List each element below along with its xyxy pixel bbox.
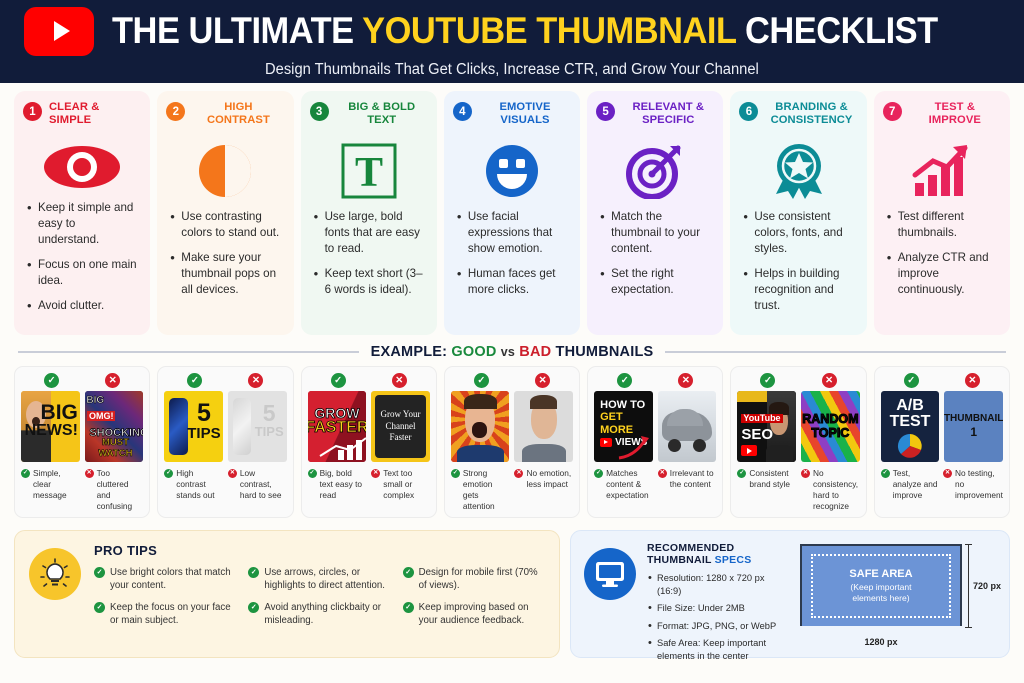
card-bullet: Keep it simple and easy to understand. — [27, 200, 139, 248]
cross-icon: ✕ — [105, 373, 120, 388]
pro-tip-item: ✓Use arrows, circles, or highlights to d… — [248, 566, 390, 592]
comparison-marks: ✓ ✕ — [21, 373, 143, 388]
thumbnail-pair: 5 TIPS 5 TIPS — [164, 391, 286, 462]
card-bullet: Analyze CTR and improve continuously. — [887, 250, 999, 298]
cross-icon: ✕ — [392, 373, 407, 388]
target-dart-icon — [596, 137, 714, 205]
comparison-card-7: ✓ ✕ A/B TEST THUMBNAIL 1 ✓Test, analyze … — [874, 366, 1010, 518]
good-thumbnail: 5 TIPS — [164, 391, 223, 462]
card-bullet: Helps in building recognition and trust. — [743, 266, 855, 314]
thumb-text-line-2: SEO — [741, 427, 782, 443]
safe-area-box: SAFE AREA (Keep important elements here) — [811, 554, 951, 618]
thumb-text-line-1: 5 — [255, 402, 284, 425]
bottom-section: PRO TIPS ✓Use bright colors that match y… — [0, 518, 1024, 658]
divider-suffix: THUMBNAILS — [556, 344, 654, 360]
check-icon: ✓ — [451, 469, 460, 478]
thumb-text-line-1: BIG — [25, 402, 78, 423]
pro-tip-item: ✓Avoid anything clickbaity or misleading… — [248, 601, 390, 627]
card-bullets: Use facial expressions that show emotion… — [453, 209, 571, 307]
caption-text: No consistency, hard to recognize — [813, 468, 860, 512]
card-title: CLEAR & SIMPLE — [49, 101, 141, 127]
caption-text: High contrast stands out — [176, 468, 223, 501]
title-part-2: CHECKLIST — [736, 10, 938, 51]
checklist-card-3: 3 BIG & BOLD TEXT T Use large, bold font… — [301, 91, 437, 335]
pro-tip-item: ✓Keep improving based on your audience f… — [403, 601, 545, 627]
card-bullet: Keep text short (3–6 words is ideal). — [314, 266, 426, 298]
card-bullet: Use consistent colors, fonts, and styles… — [743, 209, 855, 257]
cross-icon: ✕ — [371, 469, 380, 478]
bad-caption: ✕Low contrast, hard to see — [228, 468, 287, 501]
thumb-text-line-1: RANDOM — [802, 413, 858, 426]
cross-icon: ✕ — [514, 469, 523, 478]
caption-text: Text too small or complex — [383, 468, 430, 501]
caption-row: ✓Test, analyze and improve ✕No testing, … — [881, 468, 1003, 501]
cross-icon: ✕ — [535, 373, 550, 388]
height-dimension: 720 px — [968, 544, 1001, 628]
card-title: EMOTIVE VISUALS — [479, 101, 571, 127]
check-icon: ✓ — [881, 469, 890, 478]
pro-tip-item: ✓Design for mobile first (70% of views). — [403, 566, 545, 592]
bad-caption: ✕No emotion, less impact — [514, 468, 573, 512]
bad-caption: ✕Text too small or complex — [371, 468, 430, 501]
thumb-text-line-2: TIPS — [255, 425, 284, 438]
check-icon: ✓ — [331, 373, 346, 388]
check-icon: ✓ — [617, 373, 632, 388]
card-number-badge: 7 — [883, 102, 902, 121]
card-number-badge: 1 — [23, 102, 42, 121]
title-part-1: THE ULTIMATE — [112, 10, 362, 51]
card-bullet: Set the right expectation. — [600, 266, 712, 298]
thumb-text-line-1: HOW TO — [600, 399, 653, 411]
caption-text: Irrelevant to the content — [670, 468, 717, 490]
example-divider: EXAMPLE: GOOD vs BAD THUMBNAILS — [18, 344, 1006, 360]
cross-icon: ✕ — [85, 469, 94, 478]
divider-bad: BAD — [519, 344, 551, 360]
height-dimension-bar — [968, 544, 969, 628]
caption-text: Big, bold text easy to read — [320, 468, 367, 501]
thumbnail-box: SAFE AREA (Keep important elements here) — [800, 544, 962, 628]
check-icon: ✓ — [248, 567, 259, 578]
safe-area-sub-1: (Keep important — [850, 582, 911, 594]
thumb-text-line-1: 5 — [187, 401, 220, 426]
card-bullet: Focus on one main idea. — [27, 257, 139, 289]
bad-thumbnail: THUMBNAIL 1 — [944, 391, 1003, 462]
card-bullet: Avoid clutter. — [27, 298, 139, 314]
thumb-text-line-3: Faster — [390, 432, 412, 444]
card-header: 2 HIGH CONTRAST — [166, 101, 284, 135]
card-bullet: Human faces get more clicks. — [457, 266, 569, 298]
safe-area-title: SAFE AREA — [849, 567, 912, 582]
comparison-card-5: ✓ ✕ HOW TO GET MORE VIEWS — [587, 366, 723, 518]
specs-heading: RECOMMENDED THUMBNAIL SPECS — [647, 542, 789, 566]
check-icon: ✓ — [594, 469, 603, 478]
svg-text:T: T — [355, 150, 383, 196]
comparison-card-6: ✓ ✕ YouTube SEO RANDOM TOPIC — [730, 366, 866, 518]
caption-text: Strong emotion gets attention — [463, 468, 510, 512]
caption-text: Test, analyze and improve — [893, 468, 938, 501]
specs-content: RECOMMENDED THUMBNAIL SPECS Resolution: … — [647, 542, 789, 646]
page-header: THE ULTIMATE YOUTUBE THUMBNAIL CHECKLIST… — [0, 0, 1024, 83]
good-thumbnail: GROW FASTER — [308, 391, 367, 462]
caption-text: Low contrast, hard to see — [240, 468, 287, 501]
cross-icon: ✕ — [965, 373, 980, 388]
card-title: BRANDING & CONSISTENCY — [765, 101, 857, 127]
thumbnail-pair — [451, 391, 573, 462]
monitor-icon — [584, 548, 636, 600]
checklist-card-7: 7 TEST & IMPROVE Test different thumbnai… — [874, 91, 1010, 335]
thumb-text-line-2: GET MORE — [600, 411, 653, 436]
check-icon: ✓ — [94, 567, 105, 578]
bad-caption: ✕Irrelevant to the content — [658, 468, 717, 501]
divider-label: EXAMPLE: GOOD vs BAD THUMBNAILS — [371, 344, 654, 360]
bad-thumbnail: 5 TIPS — [228, 391, 287, 462]
page-subtitle: Design Thumbnails That Get Clicks, Incre… — [265, 61, 759, 79]
cross-icon: ✕ — [678, 373, 693, 388]
good-caption: ✓Test, analyze and improve — [881, 468, 938, 501]
card-header: 1 CLEAR & SIMPLE — [23, 101, 141, 135]
check-icon: ✓ — [737, 469, 746, 478]
bad-thumbnail: BIG OMG! SHOCKING MUST WATCH — [85, 391, 144, 462]
divider-line-left — [18, 351, 359, 353]
check-icon: ✓ — [44, 373, 59, 388]
cross-icon: ✕ — [248, 373, 263, 388]
pro-tips-heading: PRO TIPS — [94, 543, 545, 558]
thumb-text-line-2: Channel — [386, 421, 416, 433]
width-label-wrap: 1280 px — [800, 626, 962, 644]
good-thumbnail: HOW TO GET MORE VIEWS — [594, 391, 653, 462]
specs-heading-part-2: SPECS — [715, 554, 752, 566]
card-header: 4 EMOTIVE VISUALS — [453, 101, 571, 135]
comparison-card-1: ✓ ✕ BIG NEWS! BIG OMG! SHOCKING MUST WAT… — [14, 366, 150, 518]
comparison-marks: ✓ ✕ — [451, 373, 573, 388]
checklist-card-1: 1 CLEAR & SIMPLE Keep it simple and easy… — [14, 91, 150, 335]
comparison-marks: ✓ ✕ — [737, 373, 859, 388]
thumb-text-line-1: YouTube — [741, 414, 782, 423]
check-icon: ✓ — [760, 373, 775, 388]
good-caption: ✓High contrast stands out — [164, 468, 223, 501]
divider-line-right — [665, 351, 1006, 353]
caption-row: ✓Matches content & expectation ✕Irreleva… — [594, 468, 716, 501]
card-number-badge: 4 — [453, 102, 472, 121]
caption-row: ✓High contrast stands out ✕Low contrast,… — [164, 468, 286, 501]
pro-tip-text: Use bright colors that match your conten… — [110, 566, 236, 592]
card-title: TEST & IMPROVE — [909, 101, 1001, 127]
divider-good: GOOD — [451, 344, 496, 360]
pro-tip-text: Design for mobile first (70% of views). — [419, 566, 545, 592]
comparison-marks: ✓ ✕ — [881, 373, 1003, 388]
thumbnail-pair: GROW FASTER Grow Your Channel Faster — [308, 391, 430, 462]
card-header: 5 RELEVANT & SPECIFIC — [596, 101, 714, 135]
checklist-cards-row: 1 CLEAR & SIMPLE Keep it simple and easy… — [0, 83, 1024, 335]
eye-icon — [23, 137, 141, 196]
thumb-text-line-1: BIG — [86, 395, 104, 406]
pro-tips-grid: ✓Use bright colors that match your conte… — [94, 566, 545, 627]
title-highlight: YOUTUBE THUMBNAIL — [362, 10, 736, 51]
check-icon: ✓ — [248, 602, 259, 613]
caption-row: ✓Big, bold text easy to read ✕Text too s… — [308, 468, 430, 501]
check-icon: ✓ — [904, 373, 919, 388]
divider-prefix: EXAMPLE: — [371, 344, 448, 360]
check-icon: ✓ — [474, 373, 489, 388]
checklist-card-6: 6 BRANDING & CONSISTENCY Use consistent … — [730, 91, 866, 335]
thumb-text-line-2: NEWS! — [25, 423, 78, 439]
caption-text: Matches content & expectation — [606, 468, 653, 501]
spec-item: File Size: Under 2MB — [647, 602, 789, 615]
spec-item: Resolution: 1280 x 720 px (16:9) — [647, 572, 789, 597]
card-bullet: Use large, bold fonts that are easy to r… — [314, 209, 426, 257]
card-bullet: Make sure your thumbnail pops on all dev… — [170, 250, 282, 298]
youtube-play-icon — [54, 21, 70, 41]
youtube-logo — [24, 7, 94, 56]
pro-tip-text: Keep improving based on your audience fe… — [419, 601, 545, 627]
pro-tip-item: ✓Use bright colors that match your conte… — [94, 566, 236, 592]
thumb-text-line-2: OMG! — [87, 411, 116, 421]
thumb-text-line-1: A/B — [890, 398, 931, 414]
good-thumbnail: A/B TEST — [881, 391, 940, 462]
caption-text: Consistent brand style — [749, 468, 796, 490]
card-number-badge: 3 — [310, 102, 329, 121]
good-thumbnail — [451, 391, 510, 462]
cross-icon: ✕ — [943, 469, 952, 478]
comparison-marks: ✓ ✕ — [308, 373, 430, 388]
cross-icon: ✕ — [658, 469, 667, 478]
caption-row: ✓Consistent brand style ✕No consistency,… — [737, 468, 859, 512]
comparison-marks: ✓ ✕ — [594, 373, 716, 388]
check-icon: ✓ — [308, 469, 317, 478]
comparison-marks: ✓ ✕ — [164, 373, 286, 388]
card-bullet: Use facial expressions that show emotion… — [457, 209, 569, 257]
thumbnail-dimension-diagram: SAFE AREA (Keep important elements here)… — [800, 542, 996, 646]
specs-panel: RECOMMENDED THUMBNAIL SPECS Resolution: … — [570, 530, 1010, 658]
good-caption: ✓Consistent brand style — [737, 468, 796, 512]
card-header: 6 BRANDING & CONSISTENCY — [739, 101, 857, 135]
thumbnail-pair: BIG NEWS! BIG OMG! SHOCKING MUST WATCH — [21, 391, 143, 462]
card-bullets: Use consistent colors, fonts, and styles… — [739, 209, 857, 323]
height-label: 720 px — [973, 581, 1001, 591]
lightbulb-icon — [29, 548, 81, 600]
card-bullets: Keep it simple and easy to understand. F… — [23, 200, 141, 323]
bad-thumbnail — [514, 391, 573, 462]
card-bullets: Use large, bold fonts that are easy to r… — [310, 209, 428, 307]
thumb-text-line-1: Grow Your — [381, 409, 421, 421]
smiley-face-icon — [453, 137, 571, 205]
caption-text: Simple, clear message — [33, 468, 80, 501]
thumb-text-line-4: MUST WATCH — [88, 437, 144, 459]
good-caption: ✓Simple, clear message — [21, 468, 80, 512]
good-caption: ✓Matches content & expectation — [594, 468, 653, 501]
thumb-text-line-1: THUMBNAIL — [944, 413, 1003, 426]
thumb-text-line-2: TEST — [890, 414, 931, 430]
pro-tips-panel: PRO TIPS ✓Use bright colors that match y… — [14, 530, 560, 658]
comparison-card-2: ✓ ✕ 5 TIPS 5 TIPS ✓High contrast stands … — [157, 366, 293, 518]
bad-caption: ✕No testing, no improvement — [943, 468, 1003, 501]
card-number-badge: 6 — [739, 102, 758, 121]
good-thumbnail: YouTube SEO — [737, 391, 796, 462]
comparison-row: ✓ ✕ BIG NEWS! BIG OMG! SHOCKING MUST WAT… — [0, 366, 1024, 518]
card-bullet: Test different thumbnails. — [887, 209, 999, 241]
thumb-text-line-2: 1 — [944, 425, 1003, 440]
check-icon: ✓ — [187, 373, 202, 388]
header-title-row: THE ULTIMATE YOUTUBE THUMBNAIL CHECKLIST — [24, 7, 1000, 56]
caption-row: ✓Simple, clear message ✕Too cluttered an… — [21, 468, 143, 512]
check-icon: ✓ — [21, 469, 30, 478]
card-title: RELEVANT & SPECIFIC — [622, 101, 714, 127]
caption-row: ✓Strong emotion gets attention ✕No emoti… — [451, 468, 573, 512]
spec-item: Format: JPG, PNG, or WebP — [647, 620, 789, 633]
caption-text: No emotion, less impact — [526, 468, 573, 490]
cross-icon: ✕ — [801, 469, 810, 478]
checklist-card-2: 2 HIGH CONTRAST Use contrasting colors t… — [157, 91, 293, 335]
card-number-badge: 5 — [596, 102, 615, 121]
card-number-badge: 2 — [166, 102, 185, 121]
check-icon: ✓ — [403, 567, 414, 578]
card-bullets: Match the thumbnail to your content. Set… — [596, 209, 714, 307]
thumb-text-line-2: TIPS — [187, 426, 220, 441]
good-caption: ✓Strong emotion gets attention — [451, 468, 510, 512]
spec-item: Safe Area: Keep important elements in th… — [647, 637, 789, 662]
cross-icon: ✕ — [822, 373, 837, 388]
safe-area-sub-2: elements here) — [852, 593, 909, 605]
comparison-card-4: ✓ ✕ ✓Strong emotion gets attention ✕No e… — [444, 366, 580, 518]
card-title: BIG & BOLD TEXT — [336, 101, 428, 127]
bad-caption: ✕No consistency, hard to recognize — [801, 468, 860, 512]
pro-tip-text: Use arrows, circles, or highlights to di… — [264, 566, 390, 592]
width-label: 1280 px — [860, 637, 901, 647]
growth-chart-icon — [883, 137, 1001, 205]
thumbnail-pair: A/B TEST THUMBNAIL 1 — [881, 391, 1003, 462]
bad-thumbnail — [658, 391, 717, 462]
bad-thumbnail: Grow Your Channel Faster — [371, 391, 430, 462]
check-icon: ✓ — [164, 469, 173, 478]
specs-list: Resolution: 1280 x 720 px (16:9) File Si… — [647, 572, 789, 662]
pro-tip-text: Avoid anything clickbaity or misleading. — [264, 601, 390, 627]
thumb-text-line-2: FASTER — [308, 420, 367, 437]
text-box-icon: T — [310, 137, 428, 205]
check-icon: ✓ — [403, 602, 414, 613]
pro-tip-item: ✓Keep the focus on your face or main sub… — [94, 601, 236, 627]
award-badge-icon — [739, 137, 857, 205]
thumbnail-pair: HOW TO GET MORE VIEWS — [594, 391, 716, 462]
pro-tips-content: PRO TIPS ✓Use bright colors that match y… — [94, 543, 545, 645]
bad-caption: ✕Too cluttered and confusing — [85, 468, 144, 512]
check-icon: ✓ — [94, 602, 105, 613]
divider-vs: vs — [501, 345, 515, 359]
checklist-card-4: 4 EMOTIVE VISUALS Use facial expressions… — [444, 91, 580, 335]
card-title: HIGH CONTRAST — [192, 101, 284, 127]
good-caption: ✓Big, bold text easy to read — [308, 468, 367, 501]
comparison-card-3: ✓ ✕ GROW FASTER Grow Your Channel Faster — [301, 366, 437, 518]
pro-tip-text: Keep the focus on your face or main subj… — [110, 601, 236, 627]
thumb-text-line-1: GROW — [308, 406, 367, 421]
checklist-card-5: 5 RELEVANT & SPECIFIC Match the thumbnai… — [587, 91, 723, 335]
thumbnail-pair: YouTube SEO RANDOM TOPIC — [737, 391, 859, 462]
page-title: THE ULTIMATE YOUTUBE THUMBNAIL CHECKLIST — [112, 10, 938, 52]
card-bullets: Test different thumbnails. Analyze CTR a… — [883, 209, 1001, 307]
card-header: 3 BIG & BOLD TEXT — [310, 101, 428, 135]
contrast-circle-icon — [166, 137, 284, 205]
cross-icon: ✕ — [228, 469, 237, 478]
card-bullet: Use contrasting colors to stand out. — [170, 209, 282, 241]
card-bullet: Match the thumbnail to your content. — [600, 209, 712, 257]
card-header: 7 TEST & IMPROVE — [883, 101, 1001, 135]
bad-thumbnail: RANDOM TOPIC — [801, 391, 860, 462]
caption-text: Too cluttered and confusing — [97, 468, 144, 512]
card-bullets: Use contrasting colors to stand out. Mak… — [166, 209, 284, 307]
thumb-text-line-2: TOPIC — [802, 427, 858, 440]
caption-text: No testing, no improvement — [955, 468, 1003, 501]
good-thumbnail: BIG NEWS! — [21, 391, 80, 462]
